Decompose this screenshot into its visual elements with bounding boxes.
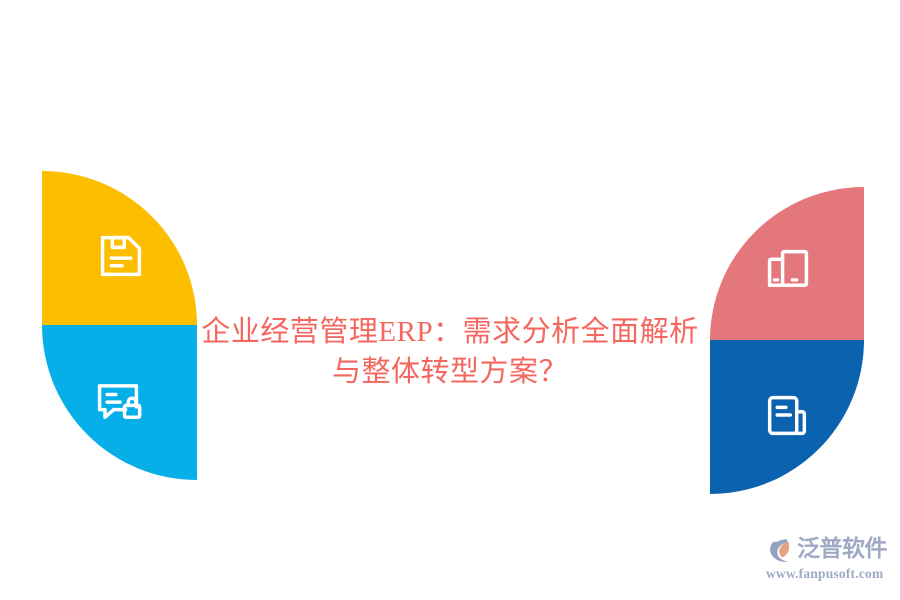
page-title-line-2: 与整体转型方案？	[0, 352, 900, 392]
watermark-url-text: www.fanpusoft.com	[766, 566, 883, 582]
watermark-brand-text: 泛普软件	[797, 535, 887, 564]
fanpu-logo-icon	[765, 535, 794, 564]
watermark-logo: 泛普软件 www.fanpusoft.com	[765, 533, 890, 585]
devices-icon	[762, 243, 814, 295]
page-title-line-1: 企业经营管理ERP：需求分析全面解析	[0, 312, 900, 352]
save-document-icon	[95, 230, 147, 282]
poster-canvas: 企业经营管理ERP：需求分析全面解析 与整体转型方案？ 泛普软件 www.fan…	[0, 0, 900, 600]
page-title: 企业经营管理ERP：需求分析全面解析 与整体转型方案？	[0, 312, 900, 392]
petal-quadrant-yellow	[42, 171, 197, 325]
book-document-icon	[761, 389, 813, 441]
watermark-brand-row: 泛普软件	[765, 533, 887, 566]
